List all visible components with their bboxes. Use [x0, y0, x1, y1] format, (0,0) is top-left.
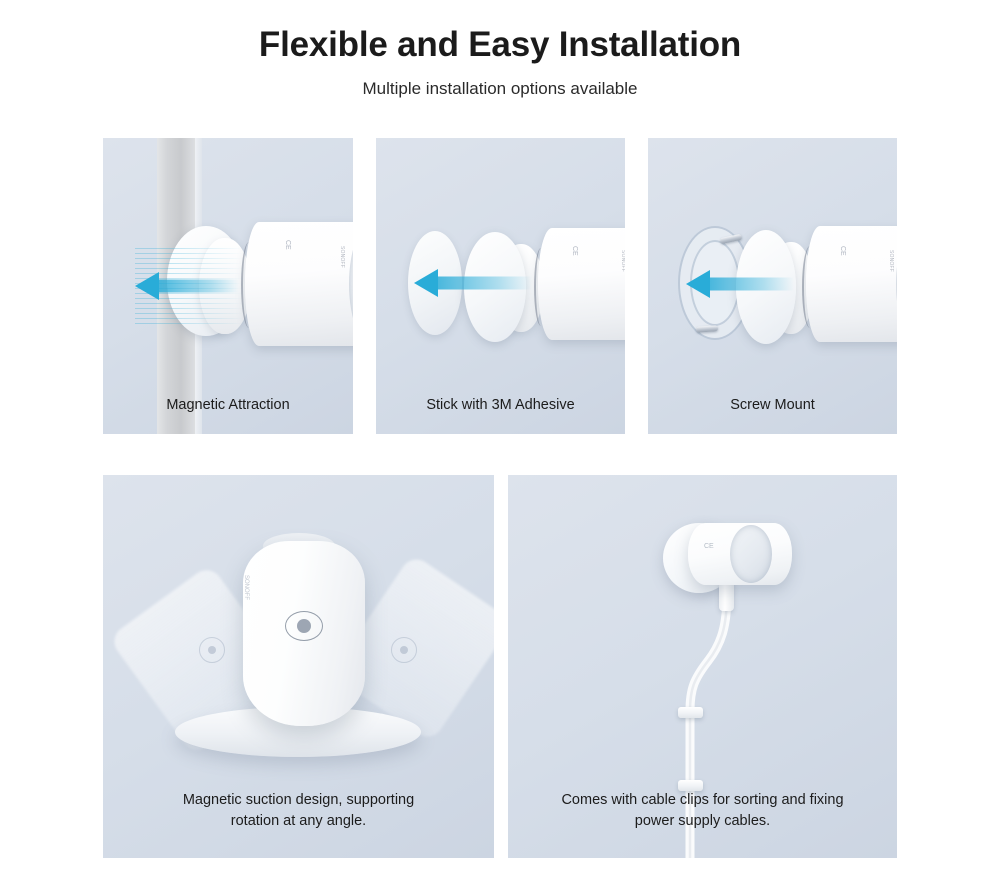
sonoff-side-label: SONOFF: [243, 575, 249, 600]
ce-mark-icon: CE: [284, 240, 291, 250]
page-header: Flexible and Easy Installation Multiple …: [0, 0, 1000, 99]
sonoff-brand-label: SONOFF: [888, 250, 894, 272]
lens-face-icon: [730, 525, 772, 583]
ce-mark-icon: CE: [571, 246, 578, 256]
panel-caption-screw: Screw Mount: [648, 395, 897, 416]
panel-rotation-design: SONOFF Magnetic suction design, supporti…: [103, 475, 494, 858]
lens-icon: [285, 611, 323, 641]
caption-line-2: rotation at any angle.: [103, 811, 494, 832]
caption-line-1: Comes with cable clips for sorting and f…: [508, 790, 897, 811]
caption-line-1: Magnetic suction design, supporting: [103, 790, 494, 811]
product-feature-page: Flexible and Easy Installation Multiple …: [0, 0, 1000, 895]
ce-mark-icon: CE: [839, 246, 846, 256]
page-subtitle: Multiple installation options available: [0, 79, 1000, 99]
ghost-lens-left-icon: [199, 637, 225, 663]
arrow-left-icon: [414, 263, 532, 303]
panel-caption-cable: Comes with cable clips for sorting and f…: [508, 790, 897, 832]
ce-mark-icon: CE: [704, 543, 714, 551]
panel-adhesive-mount: CE SONOFF Stick with 3M Adhesive: [376, 138, 625, 434]
panel-caption-adhesive: Stick with 3M Adhesive: [376, 395, 625, 416]
panel-cable-clips: CE Comes with cable clips for sorting an…: [508, 475, 897, 858]
arrow-left-icon: [686, 264, 794, 304]
arrow-left-icon: [135, 266, 239, 306]
cable-clip-icon: [678, 707, 703, 718]
sonoff-brand-label: SONOFF: [620, 250, 625, 272]
panel-caption-rotation: Magnetic suction design, supporting rota…: [103, 790, 494, 832]
panel-screw-mount: CE SONOFF Screw Mount: [648, 138, 897, 434]
page-title: Flexible and Easy Installation: [0, 26, 1000, 65]
panel-caption-magnetic: Magnetic Attraction: [103, 395, 353, 416]
ghost-lens-right-icon: [391, 637, 417, 663]
caption-line-2: power supply cables.: [508, 811, 897, 832]
panel-magnetic-attraction: CE SONOFF Magnetic Attraction: [103, 138, 353, 434]
cable-plug-icon: [719, 581, 734, 611]
sonoff-brand-label: SONOFF: [339, 246, 345, 268]
